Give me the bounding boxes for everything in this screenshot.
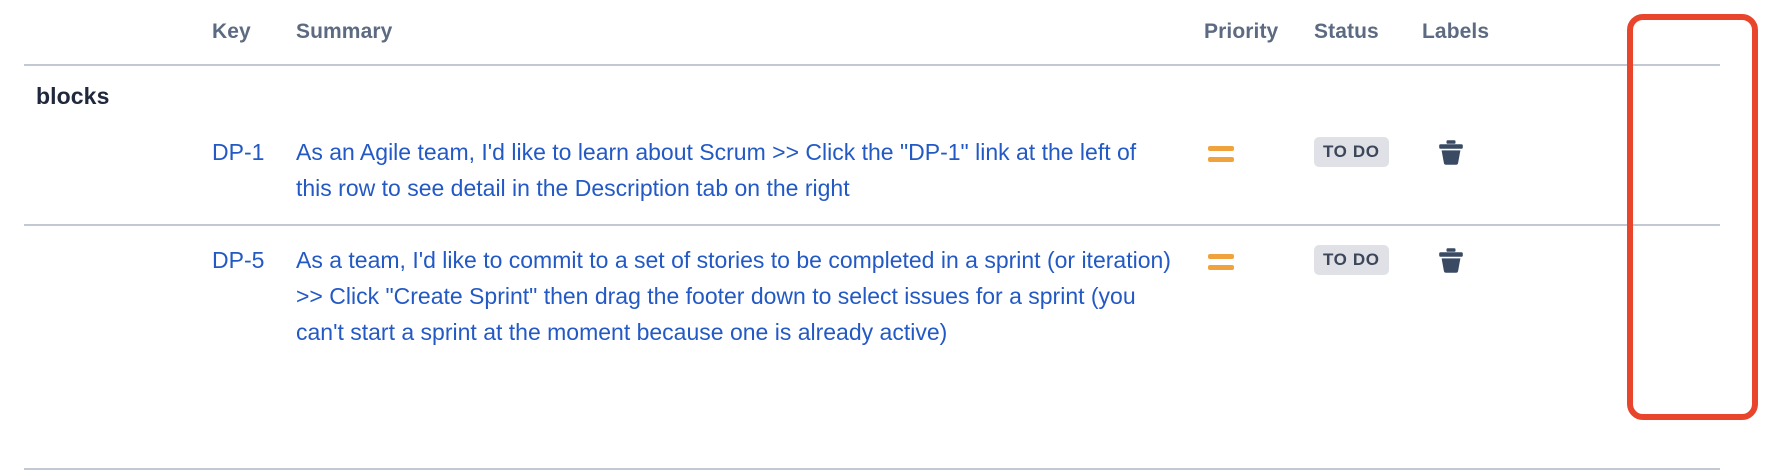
column-header-labels[interactable]: Labels	[1422, 0, 1720, 65]
row-gutter	[24, 225, 212, 469]
column-header-key[interactable]: Key	[212, 0, 296, 65]
column-header-summary[interactable]: Summary	[296, 0, 1204, 65]
link-group-row: blocks	[24, 65, 1720, 118]
issue-priority-cell	[1204, 225, 1314, 469]
issue-key-link[interactable]: DP-1	[212, 134, 264, 170]
trash-icon[interactable]	[1436, 244, 1466, 278]
issue-links-panel: Key Summary Priority Status Labels block…	[0, 0, 1788, 476]
priority-medium-icon[interactable]	[1208, 134, 1234, 170]
status-badge[interactable]: TO DO	[1314, 137, 1389, 167]
table-row[interactable]: DP-1 As an Agile team, I'd like to learn…	[24, 118, 1720, 225]
issue-summary-text[interactable]: As an Agile team, I'd like to learn abou…	[296, 134, 1204, 206]
issue-status-cell: TO DO	[1314, 118, 1422, 225]
linked-issues-table: Key Summary Priority Status Labels block…	[24, 0, 1720, 470]
link-group-cell: blocks	[24, 65, 1720, 118]
issue-labels-cell	[1422, 118, 1720, 225]
table-header: Key Summary Priority Status Labels	[24, 0, 1720, 65]
table-header-row: Key Summary Priority Status Labels	[24, 0, 1720, 65]
status-badge[interactable]: TO DO	[1314, 245, 1389, 275]
priority-medium-icon[interactable]	[1208, 242, 1234, 278]
trash-icon[interactable]	[1436, 136, 1466, 170]
issue-key-link[interactable]: DP-5	[212, 242, 264, 278]
issue-status-cell: TO DO	[1314, 225, 1422, 469]
issue-priority-cell	[1204, 118, 1314, 225]
table-body: blocks DP-1 As an Agile team, I'd like t…	[24, 65, 1720, 469]
row-gutter	[24, 118, 212, 225]
issue-key-cell: DP-5	[212, 225, 296, 469]
issue-summary-cell: As a team, I'd like to commit to a set o…	[296, 225, 1204, 469]
link-type-label: blocks	[24, 83, 109, 109]
table-row[interactable]: DP-5 As a team, I'd like to commit to a …	[24, 225, 1720, 469]
column-header-gutter	[24, 0, 212, 65]
column-header-priority[interactable]: Priority	[1204, 0, 1314, 65]
issue-labels-cell	[1422, 225, 1720, 469]
issue-summary-text[interactable]: As a team, I'd like to commit to a set o…	[296, 242, 1204, 350]
issue-summary-cell: As an Agile team, I'd like to learn abou…	[296, 118, 1204, 225]
column-header-status[interactable]: Status	[1314, 0, 1422, 65]
issue-key-cell: DP-1	[212, 118, 296, 225]
